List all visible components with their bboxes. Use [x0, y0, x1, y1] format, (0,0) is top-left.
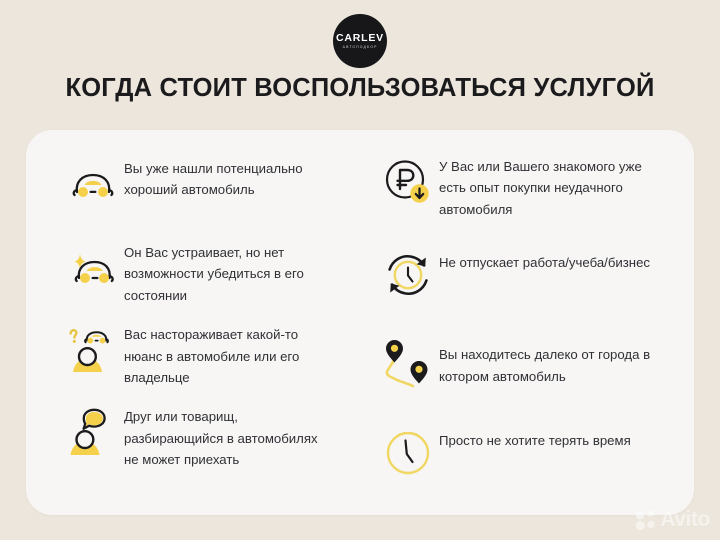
benefits-column-left: Вы уже нашли потенциально хороший автомо… [26, 130, 371, 515]
list-item-text: У Вас или Вашего знакомого уже есть опыт… [439, 154, 667, 220]
logo-wordmark: CARLEV [336, 33, 384, 44]
list-item: Он Вас устраивает, но нет возможности уб… [62, 240, 361, 306]
list-item: Друг или товарищ, разбирающийся в автомо… [62, 404, 361, 470]
list-item-text: Он Вас устраивает, но нет возможности уб… [124, 240, 334, 306]
ruble-down-icon [377, 154, 439, 212]
list-item-text: Вы уже нашли потенциально хороший автомо… [124, 156, 334, 201]
list-item-text: Просто не хотите терять время [439, 424, 631, 451]
person-speech-bubble-icon [62, 404, 124, 462]
list-item: Просто не хотите терять время [377, 424, 676, 482]
list-item: Вас настораживает какой-то нюанс в автом… [62, 322, 361, 388]
benefits-column-right: У Вас или Вашего знакомого уже есть опыт… [371, 130, 694, 515]
clock-icon [377, 424, 439, 482]
page-title: КОГДА СТОИТ ВОСПОЛЬЗОВАТЬСЯ УСЛУГОЙ [0, 74, 720, 103]
car-icon [62, 156, 124, 214]
list-item: У Вас или Вашего знакомого уже есть опыт… [377, 154, 676, 220]
person-question-car-icon [62, 322, 124, 380]
list-item-text: Вас настораживает какой-то нюанс в автом… [124, 322, 334, 388]
poster-page: CARLEV АВТОПОДБОР КОГДА СТОИТ ВОСПОЛЬЗОВ… [0, 0, 720, 540]
list-item-text: Друг или товарищ, разбирающийся в автомо… [124, 404, 334, 470]
logo-badge: CARLEV АВТОПОДБОР [333, 14, 387, 68]
list-item: Вы уже нашли потенциально хороший автомо… [62, 156, 361, 214]
clock-refresh-icon [377, 246, 439, 304]
benefits-columns: Вы уже нашли потенциально хороший автомо… [26, 130, 694, 515]
map-pins-route-icon [377, 336, 439, 394]
brand-logo: CARLEV АВТОПОДБОР [0, 14, 720, 68]
benefits-card: Вы уже нашли потенциально хороший автомо… [26, 130, 694, 515]
list-item: Вы находитесь далеко от города в котором… [377, 336, 676, 394]
list-item-text: Вы находитесь далеко от города в котором… [439, 336, 667, 387]
car-spark-icon [62, 240, 124, 298]
list-item-text: Не отпускает работа/учеба/бизнес [439, 246, 650, 273]
list-item: Не отпускает работа/учеба/бизнес [377, 246, 676, 304]
logo-tagline: АВТОПОДБОР [343, 46, 378, 49]
